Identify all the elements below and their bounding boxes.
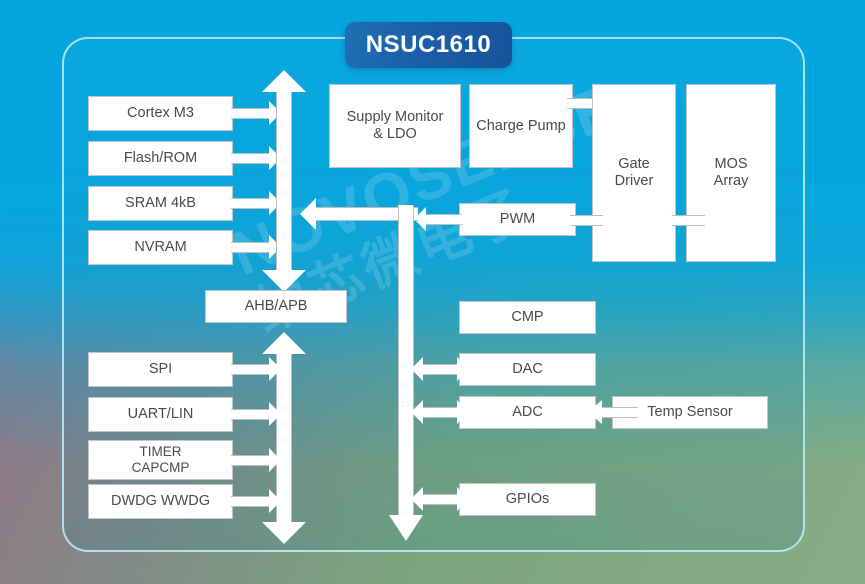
block-mos-array-label-line1: MOS	[714, 156, 747, 173]
chip-title-badge: NSUC1610	[345, 22, 512, 68]
arrow-dac-to-ahb	[411, 357, 469, 382]
block-sram[interactable]: SRAM 4kB	[88, 186, 233, 221]
block-ahb-apb-bridge-label: AHB/APB	[245, 298, 308, 315]
block-dac[interactable]: DAC	[459, 353, 596, 386]
block-sram-label: SRAM 4kB	[125, 195, 196, 212]
block-nvram[interactable]: NVRAM	[88, 230, 233, 265]
block-adc-label: ADC	[512, 404, 543, 421]
block-cmp-label: CMP	[511, 309, 543, 326]
block-pwm-label: PWM	[500, 211, 535, 228]
arrow-wdg-to-apb	[219, 489, 281, 514]
bus-ahb-left-label: A H B	[275, 150, 295, 201]
block-supply-monitor-ldo-label-line2: & LDO	[373, 126, 417, 143]
block-gate-driver-label-line1: Gate	[618, 156, 649, 173]
block-nvram-label: NVRAM	[134, 239, 186, 256]
block-cortex-m3-label: Cortex M3	[127, 105, 194, 122]
arrow-spi-to-apb	[219, 357, 281, 382]
block-dwdg-wwdg[interactable]: DWDG WWDG	[88, 484, 233, 519]
block-charge-pump-label: Charge Pump	[476, 118, 565, 135]
arrow-gate-driver-to-mos-array	[672, 208, 720, 233]
block-spi[interactable]: SPI	[88, 352, 233, 387]
bus-apb-letter-b: B	[275, 432, 295, 449]
arrow-gpios-to-ahb	[411, 487, 469, 512]
block-timer-capcmp[interactable]: TIMER CAPCMP	[88, 440, 233, 480]
bus-ahb-left-letter-a: A	[275, 150, 295, 167]
block-cmp[interactable]: CMP	[459, 301, 596, 334]
block-cortex-m3[interactable]: Cortex M3	[88, 96, 233, 131]
block-temp-sensor-label: Temp Sensor	[647, 404, 732, 421]
block-supply-monitor-ldo-label-line1: Supply Monitor	[347, 109, 444, 126]
block-adc[interactable]: ADC	[459, 396, 596, 429]
block-timer-capcmp-label-line2: CAPCMP	[132, 460, 190, 476]
bus-ahb-left-letter-h: H	[275, 167, 295, 184]
block-ahb-apb-bridge[interactable]: AHB/APB	[205, 290, 347, 323]
block-uart-lin-label: UART/LIN	[128, 406, 194, 423]
block-diagram-canvas: NOVOSENSE 纳芯微电子 NSUC1610 Cortex M3 Flash…	[0, 0, 865, 584]
chip-title-label: NSUC1610	[366, 31, 491, 59]
block-spi-label: SPI	[149, 361, 172, 378]
arrow-temp-sensor-to-adc	[588, 400, 638, 425]
bus-ahb-left-letter-b: B	[275, 184, 295, 201]
block-timer-capcmp-label-line1: TIMER	[140, 444, 182, 460]
block-gate-driver-label-line2: Driver	[615, 173, 654, 190]
block-uart-lin[interactable]: UART/LIN	[88, 397, 233, 432]
block-dwdg-wwdg-label: DWDG WWDG	[111, 493, 210, 510]
block-gate-driver[interactable]: Gate Driver	[592, 84, 676, 262]
block-mos-array-label-line2: Array	[714, 173, 749, 190]
block-flash-rom[interactable]: Flash/ROM	[88, 141, 233, 176]
block-gpios[interactable]: GPIOs	[459, 483, 596, 516]
block-dac-label: DAC	[512, 361, 543, 378]
arrow-timer-to-apb	[219, 448, 281, 473]
block-mos-array[interactable]: MOS Array	[686, 84, 776, 262]
block-pwm[interactable]: PWM	[459, 203, 576, 236]
arrow-uart-to-apb	[219, 402, 281, 427]
arrow-adc-to-ahb	[411, 400, 469, 425]
block-flash-rom-label: Flash/ROM	[124, 150, 197, 167]
arrow-pwm-to-gate-driver	[570, 208, 618, 233]
block-charge-pump[interactable]: Charge Pump	[469, 84, 573, 168]
block-gpios-label: GPIOs	[506, 491, 550, 508]
block-supply-monitor-ldo[interactable]: Supply Monitor & LDO	[329, 84, 461, 168]
arrow-pwm-to-ahb-trunk	[414, 207, 474, 232]
